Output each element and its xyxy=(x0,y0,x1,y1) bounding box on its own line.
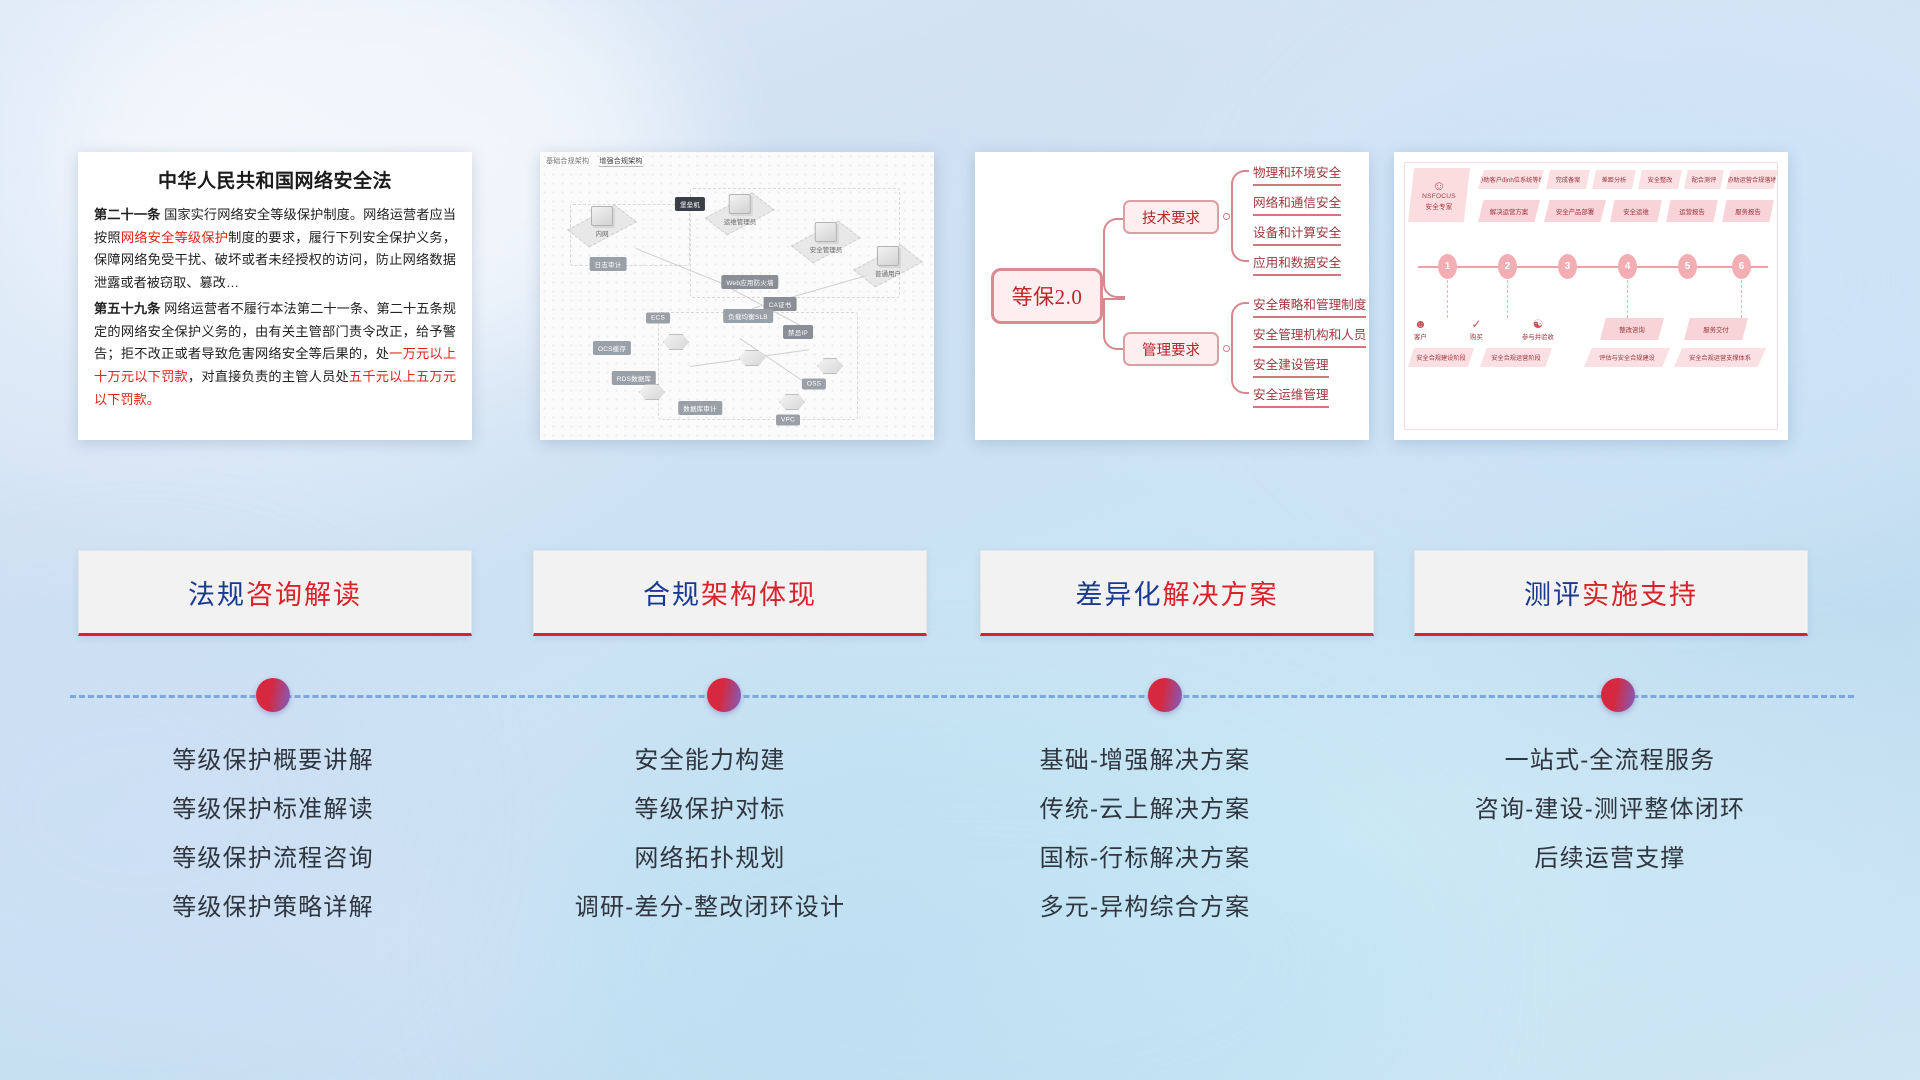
heading-text-2: 合规架构体现 xyxy=(643,573,817,612)
timeline-dashed-axis xyxy=(70,695,1854,698)
detail-list-row: 等级保护概要讲解 等级保护标准解读 等级保护流程咨询 等级保护策略详解 安全能力… xyxy=(0,740,1920,1000)
list-item: 等级保护对标 xyxy=(634,789,785,824)
heading-3-red: 解决方案 xyxy=(1163,580,1279,610)
heading-4-blue: 测评 xyxy=(1524,580,1582,610)
heading-box-compliance-architecture[interactable]: 合规架构体现 xyxy=(533,550,927,636)
list-item: 传统-云上解决方案 xyxy=(1040,789,1251,824)
heading-1-blue: 法规 xyxy=(188,580,246,610)
list-item: 基础-增强解决方案 xyxy=(1040,740,1251,775)
list-item: 等级保护流程咨询 xyxy=(172,838,374,873)
timeline-bullet-1[interactable] xyxy=(256,678,290,712)
heading-box-assessment-support[interactable]: 测评实施支持 xyxy=(1414,550,1808,636)
detail-list-3: 基础-增强解决方案 传统-云上解决方案 国标-行标解决方案 多元-异构综合方案 xyxy=(925,740,1365,922)
heading-text-4: 测评实施支持 xyxy=(1524,573,1698,612)
list-item: 等级保护策略详解 xyxy=(172,887,374,922)
list-item: 等级保护标准解读 xyxy=(172,789,374,824)
list-item: 网络拓扑规划 xyxy=(634,838,785,873)
list-item: 安全能力构建 xyxy=(634,740,785,775)
list-item: 调研-差分-整改闭环设计 xyxy=(575,887,845,922)
list-item: 后续运营支撑 xyxy=(1534,838,1685,873)
timeline-bullet-2[interactable] xyxy=(707,678,741,712)
timeline-bullet-3[interactable] xyxy=(1148,678,1182,712)
list-item: 国标-行标解决方案 xyxy=(1040,838,1251,873)
heading-text-1: 法规咨询解读 xyxy=(188,573,362,612)
heading-3-blue: 差异化 xyxy=(1076,580,1163,610)
heading-1-red: 咨询解读 xyxy=(246,580,362,610)
list-item: 一站式-全流程服务 xyxy=(1505,740,1716,775)
detail-list-2: 安全能力构建 等级保护对标 网络拓扑规划 调研-差分-整改闭环设计 xyxy=(490,740,930,922)
list-item: 咨询-建设-测评整体闭环 xyxy=(1475,789,1745,824)
heading-2-blue: 合规 xyxy=(643,580,701,610)
heading-4-red: 实施支持 xyxy=(1582,580,1698,610)
infographic-stage: 中华人民共和国网络安全法 第二十一条 国家实行网络安全等级保护制度。网络运营者应… xyxy=(0,0,1920,1080)
heading-box-regulation-consulting[interactable]: 法规咨询解读 xyxy=(78,550,472,636)
detail-list-4: 一站式-全流程服务 咨询-建设-测评整体闭环 后续运营支撑 xyxy=(1390,740,1830,873)
list-item: 多元-异构综合方案 xyxy=(1040,887,1251,922)
list-item: 等级保护概要讲解 xyxy=(172,740,374,775)
heading-text-3: 差异化解决方案 xyxy=(1076,573,1279,612)
heading-box-differentiated-solution[interactable]: 差异化解决方案 xyxy=(980,550,1374,636)
timeline-bullet-4[interactable] xyxy=(1601,678,1635,712)
detail-list-1: 等级保护概要讲解 等级保护标准解读 等级保护流程咨询 等级保护策略详解 xyxy=(53,740,493,922)
heading-2-red: 架构体现 xyxy=(701,580,817,610)
